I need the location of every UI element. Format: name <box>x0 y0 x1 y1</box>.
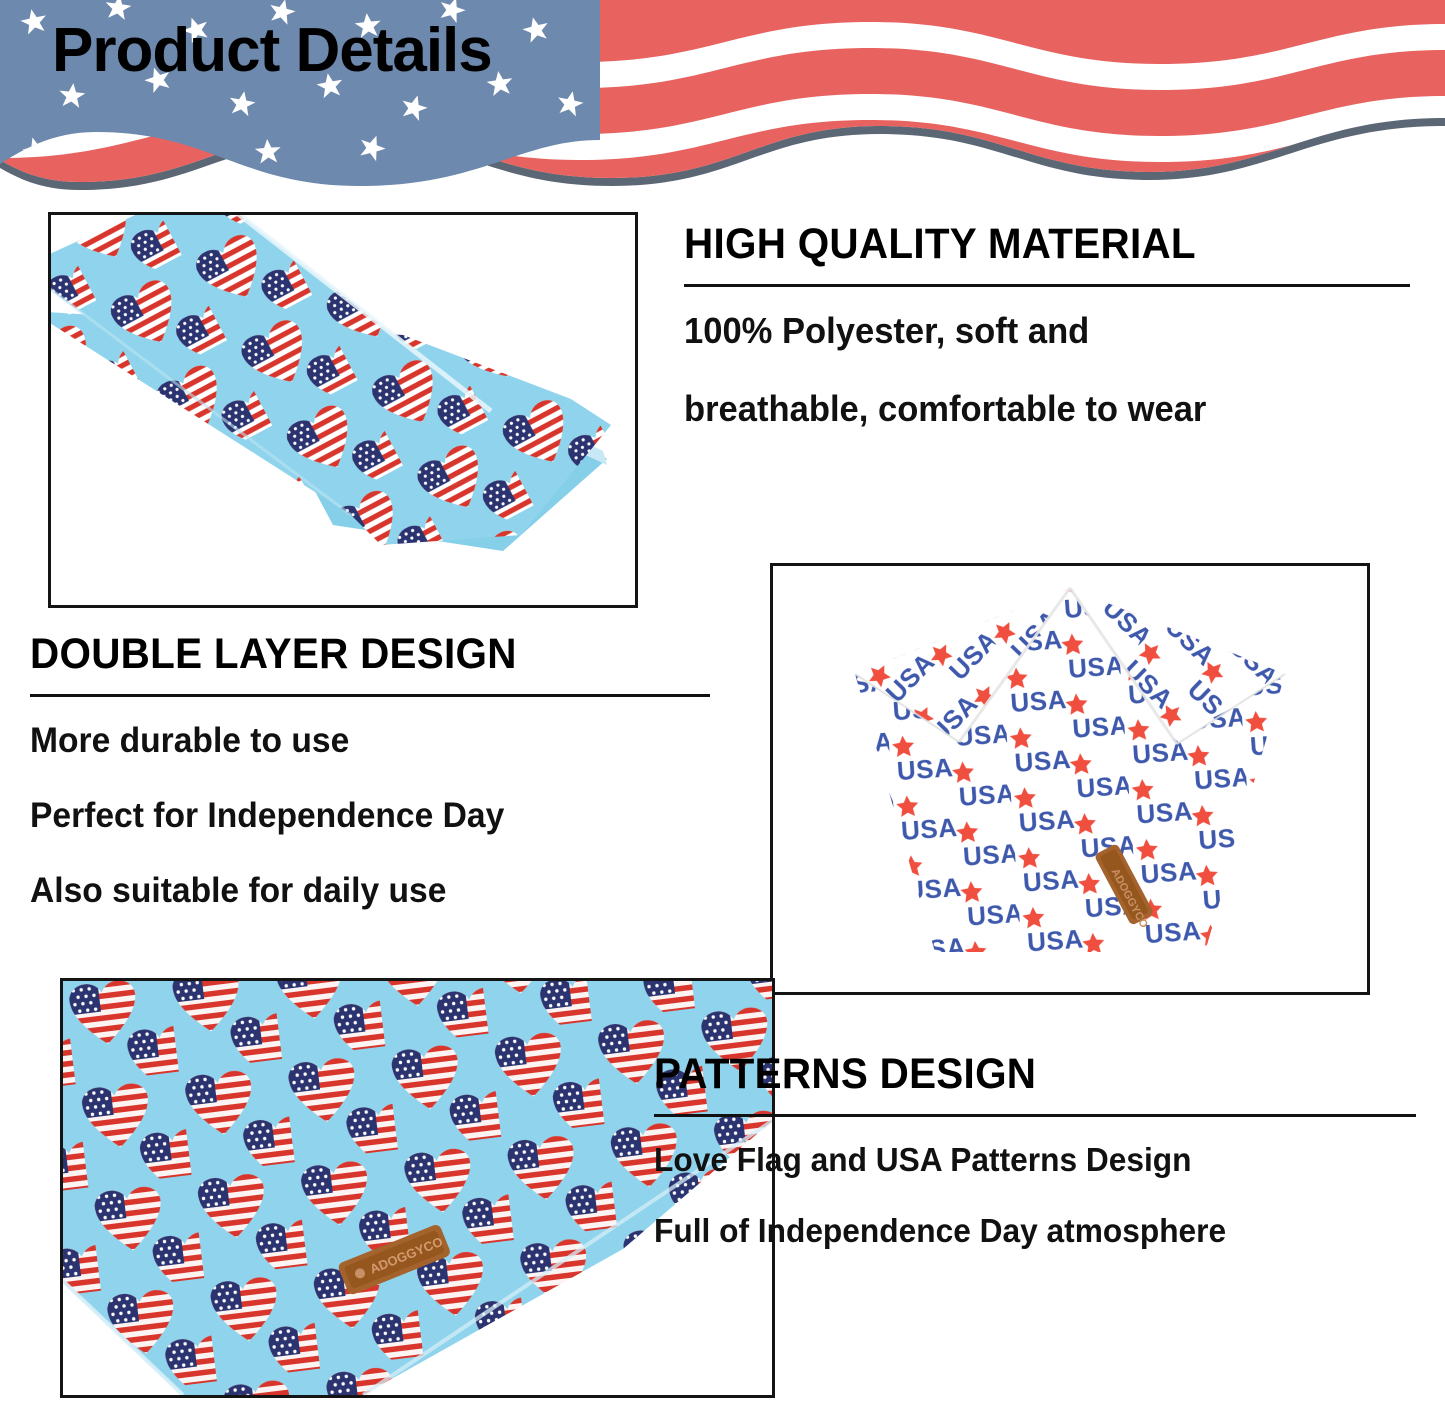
section-body-line: Full of Independence Day atmosphere <box>654 1214 1386 1247</box>
section-body-line: Love Flag and USA Patterns Design <box>654 1143 1386 1176</box>
product-photo-usa-bandana: USA USA <box>770 563 1370 995</box>
section-body-line: 100% Polyester, soft and <box>684 313 1381 349</box>
section-divider <box>30 694 710 697</box>
section-heading: HIGH QUALITY MATERIAL <box>684 222 1366 268</box>
section-heading: PATTERNS DESIGN <box>654 1052 1370 1098</box>
section-body-line: breathable, comfortable to wear <box>684 391 1381 427</box>
section-body-line: Perfect for Independence Day <box>30 798 683 833</box>
section-body-line: Also suitable for daily use <box>30 873 683 908</box>
section-divider <box>654 1114 1416 1117</box>
section-heading: DOUBLE LAYER DESIGN <box>30 632 669 678</box>
page-title: Product Details <box>52 18 492 83</box>
section-patterns-design: PATTERNS DESIGN Love Flag and USA Patter… <box>654 1052 1416 1285</box>
product-photo-folded-bandana <box>48 212 638 608</box>
section-double-layer-design: DOUBLE LAYER DESIGN More durable to use … <box>30 632 710 948</box>
section-body-line: More durable to use <box>30 723 683 758</box>
section-divider <box>684 284 1410 287</box>
section-high-quality-material: HIGH QUALITY MATERIAL 100% Polyester, so… <box>684 222 1410 469</box>
section-body: More durable to use Perfect for Independ… <box>30 723 710 908</box>
section-body: 100% Polyester, soft and breathable, com… <box>684 313 1410 427</box>
section-body: Love Flag and USA Patterns Design Full o… <box>654 1143 1416 1247</box>
